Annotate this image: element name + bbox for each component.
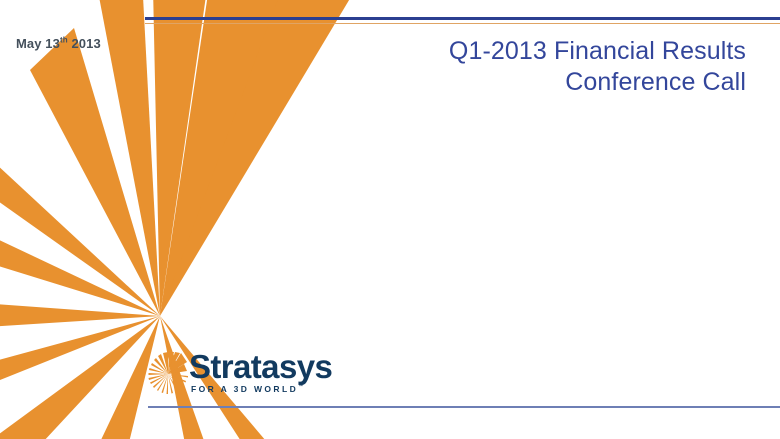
page-title-line-2: Conference Call: [226, 67, 746, 98]
date-ordinal-suffix: th: [60, 36, 68, 45]
stratasys-logo: Stratasys FOR A 3D WORLD™: [147, 350, 347, 402]
page-title-line-1: Q1-2013 Financial Results: [226, 36, 746, 67]
logo-wordmark: Stratasys: [189, 350, 332, 384]
logo-tagline: FOR A 3D WORLD™: [189, 384, 332, 394]
page-title: Q1-2013 Financial Results Conference Cal…: [226, 36, 746, 98]
sunburst-fan-icon: [147, 351, 191, 395]
date-prefix: May 13: [16, 36, 60, 51]
header-divider-orange-line: [145, 23, 780, 24]
logo-tagline-text: FOR A 3D WORLD: [191, 384, 298, 394]
date-label: May 13th 2013: [16, 36, 101, 51]
header-divider: [145, 17, 780, 26]
header-divider-blue-line: [145, 17, 780, 20]
footer-divider: [148, 406, 780, 408]
trademark-symbol: ™: [298, 384, 303, 390]
title-slide: May 13th 2013 Q1-2013 Financial Results …: [0, 0, 780, 439]
logo-text: Stratasys FOR A 3D WORLD™: [189, 350, 332, 394]
date-year: 2013: [71, 36, 100, 51]
